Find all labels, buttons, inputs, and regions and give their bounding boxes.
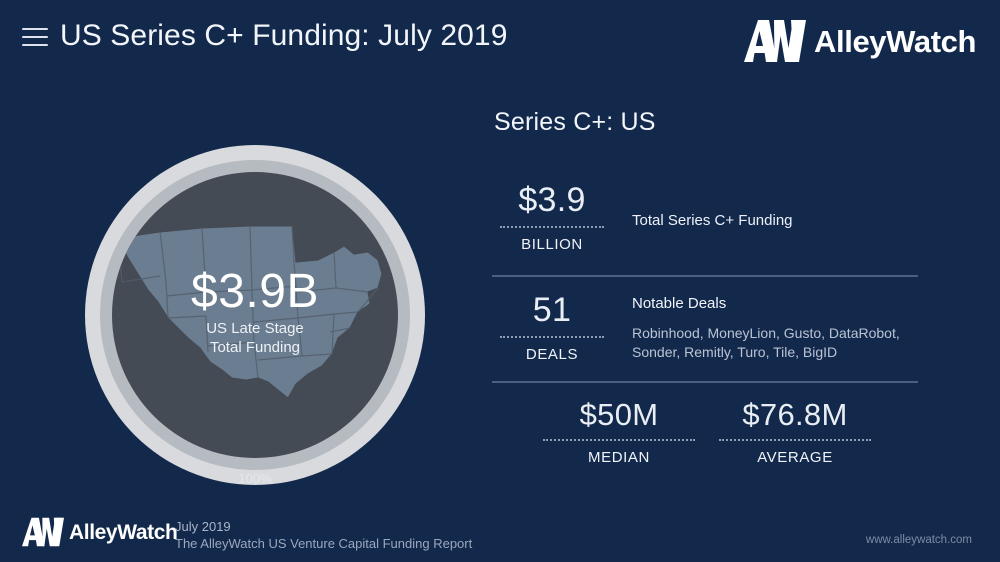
slide-header: US Series C+ Funding: July 2019 AlleyWat…	[0, 0, 1000, 82]
menu-bar-1	[22, 28, 48, 30]
average-value: $76.8M	[719, 399, 871, 430]
aw-monogram-icon-footer	[22, 516, 64, 548]
notable-deals-row: 51 DEALS Notable Deals Robinhood, MoneyL…	[492, 277, 922, 381]
deals-count-unit: DEALS	[500, 346, 604, 363]
menu-bar-2	[22, 36, 48, 38]
total-funding-stat: $3.9 BILLION	[500, 183, 604, 253]
donut-center-subtitle: US Late Stage Total Funding	[82, 319, 428, 357]
average-label: AVERAGE	[719, 449, 871, 466]
slide-canvas: US Series C+ Funding: July 2019 AlleyWat…	[0, 0, 1000, 562]
median-stat: $50M MEDIAN	[543, 399, 695, 466]
average-stat: $76.8M AVERAGE	[719, 399, 871, 466]
stats-panel: Series C+: US $3.9 BILLION Total Series …	[492, 108, 922, 466]
total-funding-row: $3.9 BILLION Total Series C+ Funding	[492, 183, 922, 253]
total-funding-description: Total Series C+ Funding	[632, 212, 793, 229]
brand-logo-footer[interactable]: AlleyWatch	[22, 516, 177, 548]
slide-footer: AlleyWatch July 2019 The AlleyWatch US V…	[0, 502, 1000, 562]
donut-center-value: $3.9B	[82, 264, 428, 319]
median-average-row: $50M MEDIAN $76.8M AVERAGE	[492, 383, 922, 466]
donut-subtitle-line-1: US Late Stage	[82, 319, 428, 338]
footer-report-info: July 2019 The AlleyWatch US Venture Capi…	[175, 518, 472, 552]
deals-count-rule	[500, 336, 604, 338]
deals-list-line-2: Sonder, Remitly, Turo, Tile, BigID	[632, 343, 900, 362]
brand-wordmark: AlleyWatch	[814, 26, 976, 57]
average-rule	[719, 439, 871, 441]
aw-monogram-icon	[744, 18, 806, 64]
donut-chart: $3.9B US Late Stage Total Funding 100%	[82, 142, 432, 492]
donut-subtitle-line-2: Total Funding	[82, 338, 428, 357]
brand-logo-header[interactable]: AlleyWatch	[744, 18, 976, 64]
panel-title: Series C+: US	[494, 108, 922, 137]
footer-website-url[interactable]: www.alleywatch.com	[866, 534, 972, 546]
median-value: $50M	[543, 399, 695, 430]
median-rule	[543, 439, 695, 441]
deals-heading: Notable Deals	[632, 295, 900, 312]
donut-percent-label: 100%	[82, 471, 428, 486]
total-funding-unit: BILLION	[500, 236, 604, 253]
deals-list-line-1: Robinhood, MoneyLion, Gusto, DataRobot,	[632, 324, 900, 343]
footer-report-title: The AlleyWatch US Venture Capital Fundin…	[175, 535, 472, 552]
deals-count-stat: 51 DEALS	[500, 293, 604, 363]
median-label: MEDIAN	[543, 449, 695, 466]
footer-date: July 2019	[175, 518, 472, 535]
menu-bar-3	[22, 44, 48, 46]
deals-text-group: Notable Deals Robinhood, MoneyLion, Gust…	[632, 295, 900, 362]
page-title: US Series C+ Funding: July 2019	[60, 19, 508, 53]
hamburger-menu-icon[interactable]	[22, 28, 48, 50]
deals-company-list: Robinhood, MoneyLion, Gusto, DataRobot, …	[632, 324, 900, 362]
deals-count-value: 51	[500, 293, 604, 327]
total-funding-value: $3.9	[500, 183, 604, 217]
brand-wordmark-footer: AlleyWatch	[69, 522, 177, 543]
total-funding-rule	[500, 226, 604, 228]
